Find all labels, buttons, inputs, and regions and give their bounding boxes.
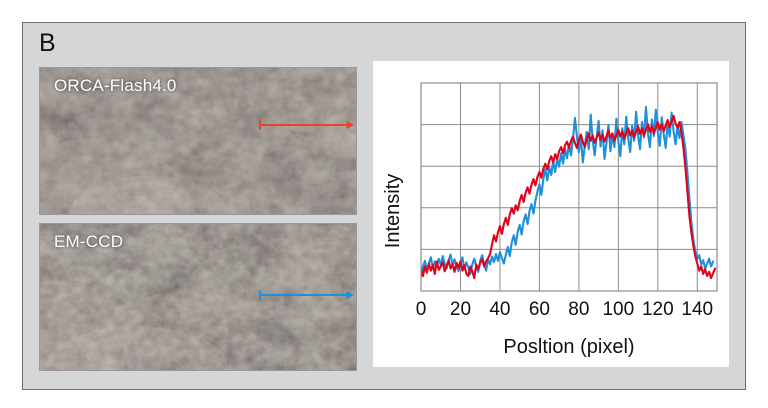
line-profile-marker-blue <box>258 288 354 302</box>
x-axis-tick-label: 120 <box>642 299 674 320</box>
line-profile-marker-red <box>258 118 354 132</box>
chart-series-line <box>421 107 713 276</box>
x-axis-tick-label: 0 <box>416 299 427 320</box>
micrograph-orca-label: ORCA-Flash4.0 <box>54 76 177 96</box>
figure-panel-b: B <box>22 22 746 390</box>
x-axis-tick-labels: 020406080100120140 <box>416 299 713 320</box>
panel-label: B <box>39 31 56 56</box>
chart-svg: 020406080100120140 Posltion (pixel) Inte… <box>373 61 729 367</box>
chart-series-line <box>421 116 715 278</box>
y-axis-title: Intensity <box>382 174 404 248</box>
x-axis-tick-label: 100 <box>602 299 634 320</box>
x-axis-tick-label: 60 <box>529 299 550 320</box>
x-axis-tick-label: 20 <box>450 299 471 320</box>
chart-series-group <box>421 107 715 278</box>
micrograph-orca-flash: ORCA-Flash4.0 <box>39 67 357 215</box>
micrograph-emccd-label: EM-CCD <box>54 232 123 252</box>
intensity-profile-chart: 020406080100120140 Posltion (pixel) Inte… <box>373 61 729 367</box>
x-axis-tick-label: 40 <box>489 299 510 320</box>
x-axis-tick-label: 140 <box>681 299 713 320</box>
x-axis-tick-label: 80 <box>568 299 589 320</box>
x-axis-title: Posltion (pixel) <box>503 336 634 358</box>
micrograph-em-ccd: EM-CCD <box>39 223 357 371</box>
